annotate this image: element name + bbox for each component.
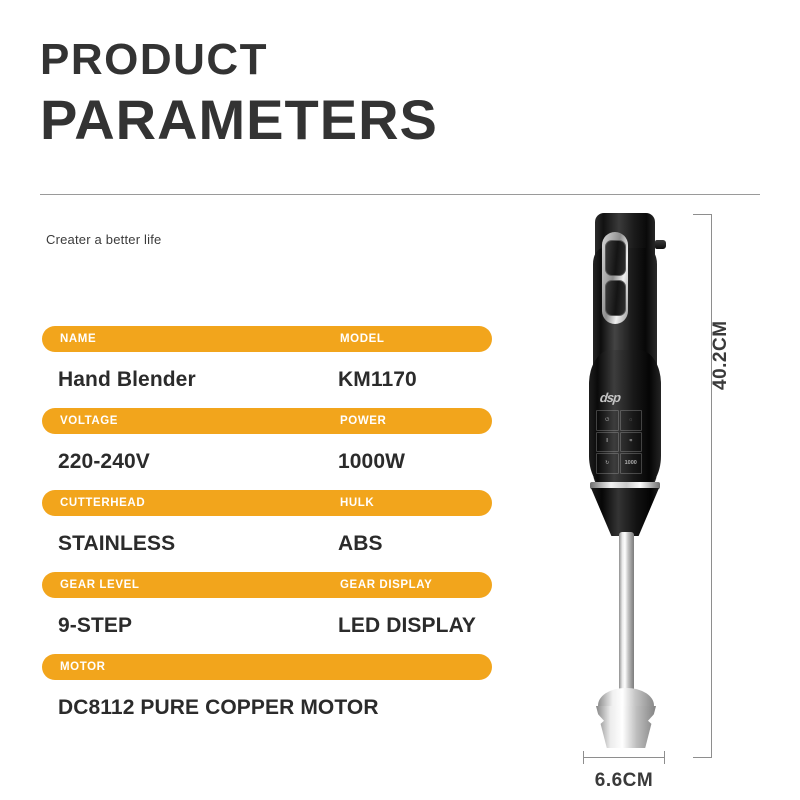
spec-header-left: MOTOR xyxy=(60,661,106,673)
dimension-line-vertical xyxy=(711,214,712,758)
header-divider xyxy=(40,194,760,195)
body-icon-whisk: ◌ xyxy=(620,410,643,431)
spec-value-right: 1000W xyxy=(338,450,405,474)
body-icon-grid: ⏻ ◌ ‖ ⌗ ↻ 1000 xyxy=(596,410,642,474)
blender-body-cone xyxy=(591,488,659,536)
dimension-label-width: 6.6CM xyxy=(583,770,665,792)
spec-value-left: 9-STEP xyxy=(58,614,132,638)
spec-value-right: ABS xyxy=(338,532,383,556)
spec-header-right: HULK xyxy=(340,497,374,509)
spec-value-left: 220-240V xyxy=(58,450,150,474)
tagline: Creater a better life xyxy=(46,232,161,247)
table-row: CUTTERHEAD HULK STAINLESS ABS xyxy=(42,490,492,572)
spec-value-left: DC8112 PURE COPPER MOTOR xyxy=(58,696,379,720)
page-title-line2: PARAMETERS xyxy=(40,92,438,148)
table-row: MOTOR DC8112 PURE COPPER MOTOR xyxy=(42,654,492,736)
body-icon-blade: ⌗ xyxy=(620,432,643,453)
spec-header-left: CUTTERHEAD xyxy=(60,497,145,509)
turbo-button-icon xyxy=(605,280,626,316)
spec-table: NAME MODEL Hand Blender KM1170 VOLTAGE P… xyxy=(42,326,492,736)
spec-header-left: VOLTAGE xyxy=(60,415,118,427)
spec-value-left: Hand Blender xyxy=(58,368,196,392)
dimension-tick-bottom xyxy=(693,757,712,758)
spec-value-row: STAINLESS ABS xyxy=(42,516,492,572)
dimension-tick-left xyxy=(583,751,584,764)
spec-value-left: STAINLESS xyxy=(58,532,175,556)
table-row: VOLTAGE POWER 220-240V 1000W xyxy=(42,408,492,490)
body-icon-rotate: ↻ xyxy=(596,453,619,474)
body-icon-speed: ‖ xyxy=(596,432,619,453)
spec-value-row: Hand Blender KM1170 xyxy=(42,352,492,408)
spec-value-row: DC8112 PURE COPPER MOTOR xyxy=(42,680,492,736)
table-row: NAME MODEL Hand Blender KM1170 xyxy=(42,326,492,408)
spec-header-right: MODEL xyxy=(340,333,385,345)
blade-guard-bell xyxy=(596,706,656,748)
spec-header-bar: CUTTERHEAD HULK xyxy=(42,490,492,516)
spec-header-left: NAME xyxy=(60,333,96,345)
blender-stainless-shaft xyxy=(619,532,634,694)
speed-knob-icon xyxy=(655,240,666,249)
spec-header-right: GEAR DISPLAY xyxy=(340,579,432,591)
dimension-tick-right xyxy=(664,751,665,764)
power-button-icon xyxy=(605,240,626,276)
page-title-line1: PRODUCT xyxy=(40,38,268,82)
product-parameters-page: PRODUCT PARAMETERS Creater a better life… xyxy=(0,0,800,800)
spec-value-row: 220-240V 1000W xyxy=(42,434,492,490)
brand-logo: dsp xyxy=(599,390,634,404)
spec-header-bar: GEAR LEVEL GEAR DISPLAY xyxy=(42,572,492,598)
body-icon-power: ⏻ xyxy=(596,410,619,431)
spec-header-bar: NAME MODEL xyxy=(42,326,492,352)
spec-value-row: 9-STEP LED DISPLAY xyxy=(42,598,492,654)
product-image-hand-blender: dsp ⏻ ◌ ‖ ⌗ ↻ 1000 40.2CM 6.6CM xyxy=(540,200,800,800)
dimension-line-horizontal xyxy=(583,757,665,758)
table-row: GEAR LEVEL GEAR DISPLAY 9-STEP LED DISPL… xyxy=(42,572,492,654)
body-icon-power-rating: 1000 xyxy=(620,453,643,474)
blender-silver-ring xyxy=(590,482,660,489)
spec-header-bar: VOLTAGE POWER xyxy=(42,408,492,434)
spec-value-right: KM1170 xyxy=(338,368,417,392)
dimension-tick-top xyxy=(693,214,712,215)
spec-header-bar: MOTOR xyxy=(42,654,492,680)
dimension-label-height: 40.2CM xyxy=(710,320,732,390)
spec-header-left: GEAR LEVEL xyxy=(60,579,139,591)
spec-value-right: LED DISPLAY xyxy=(338,614,476,638)
spec-header-right: POWER xyxy=(340,415,386,427)
